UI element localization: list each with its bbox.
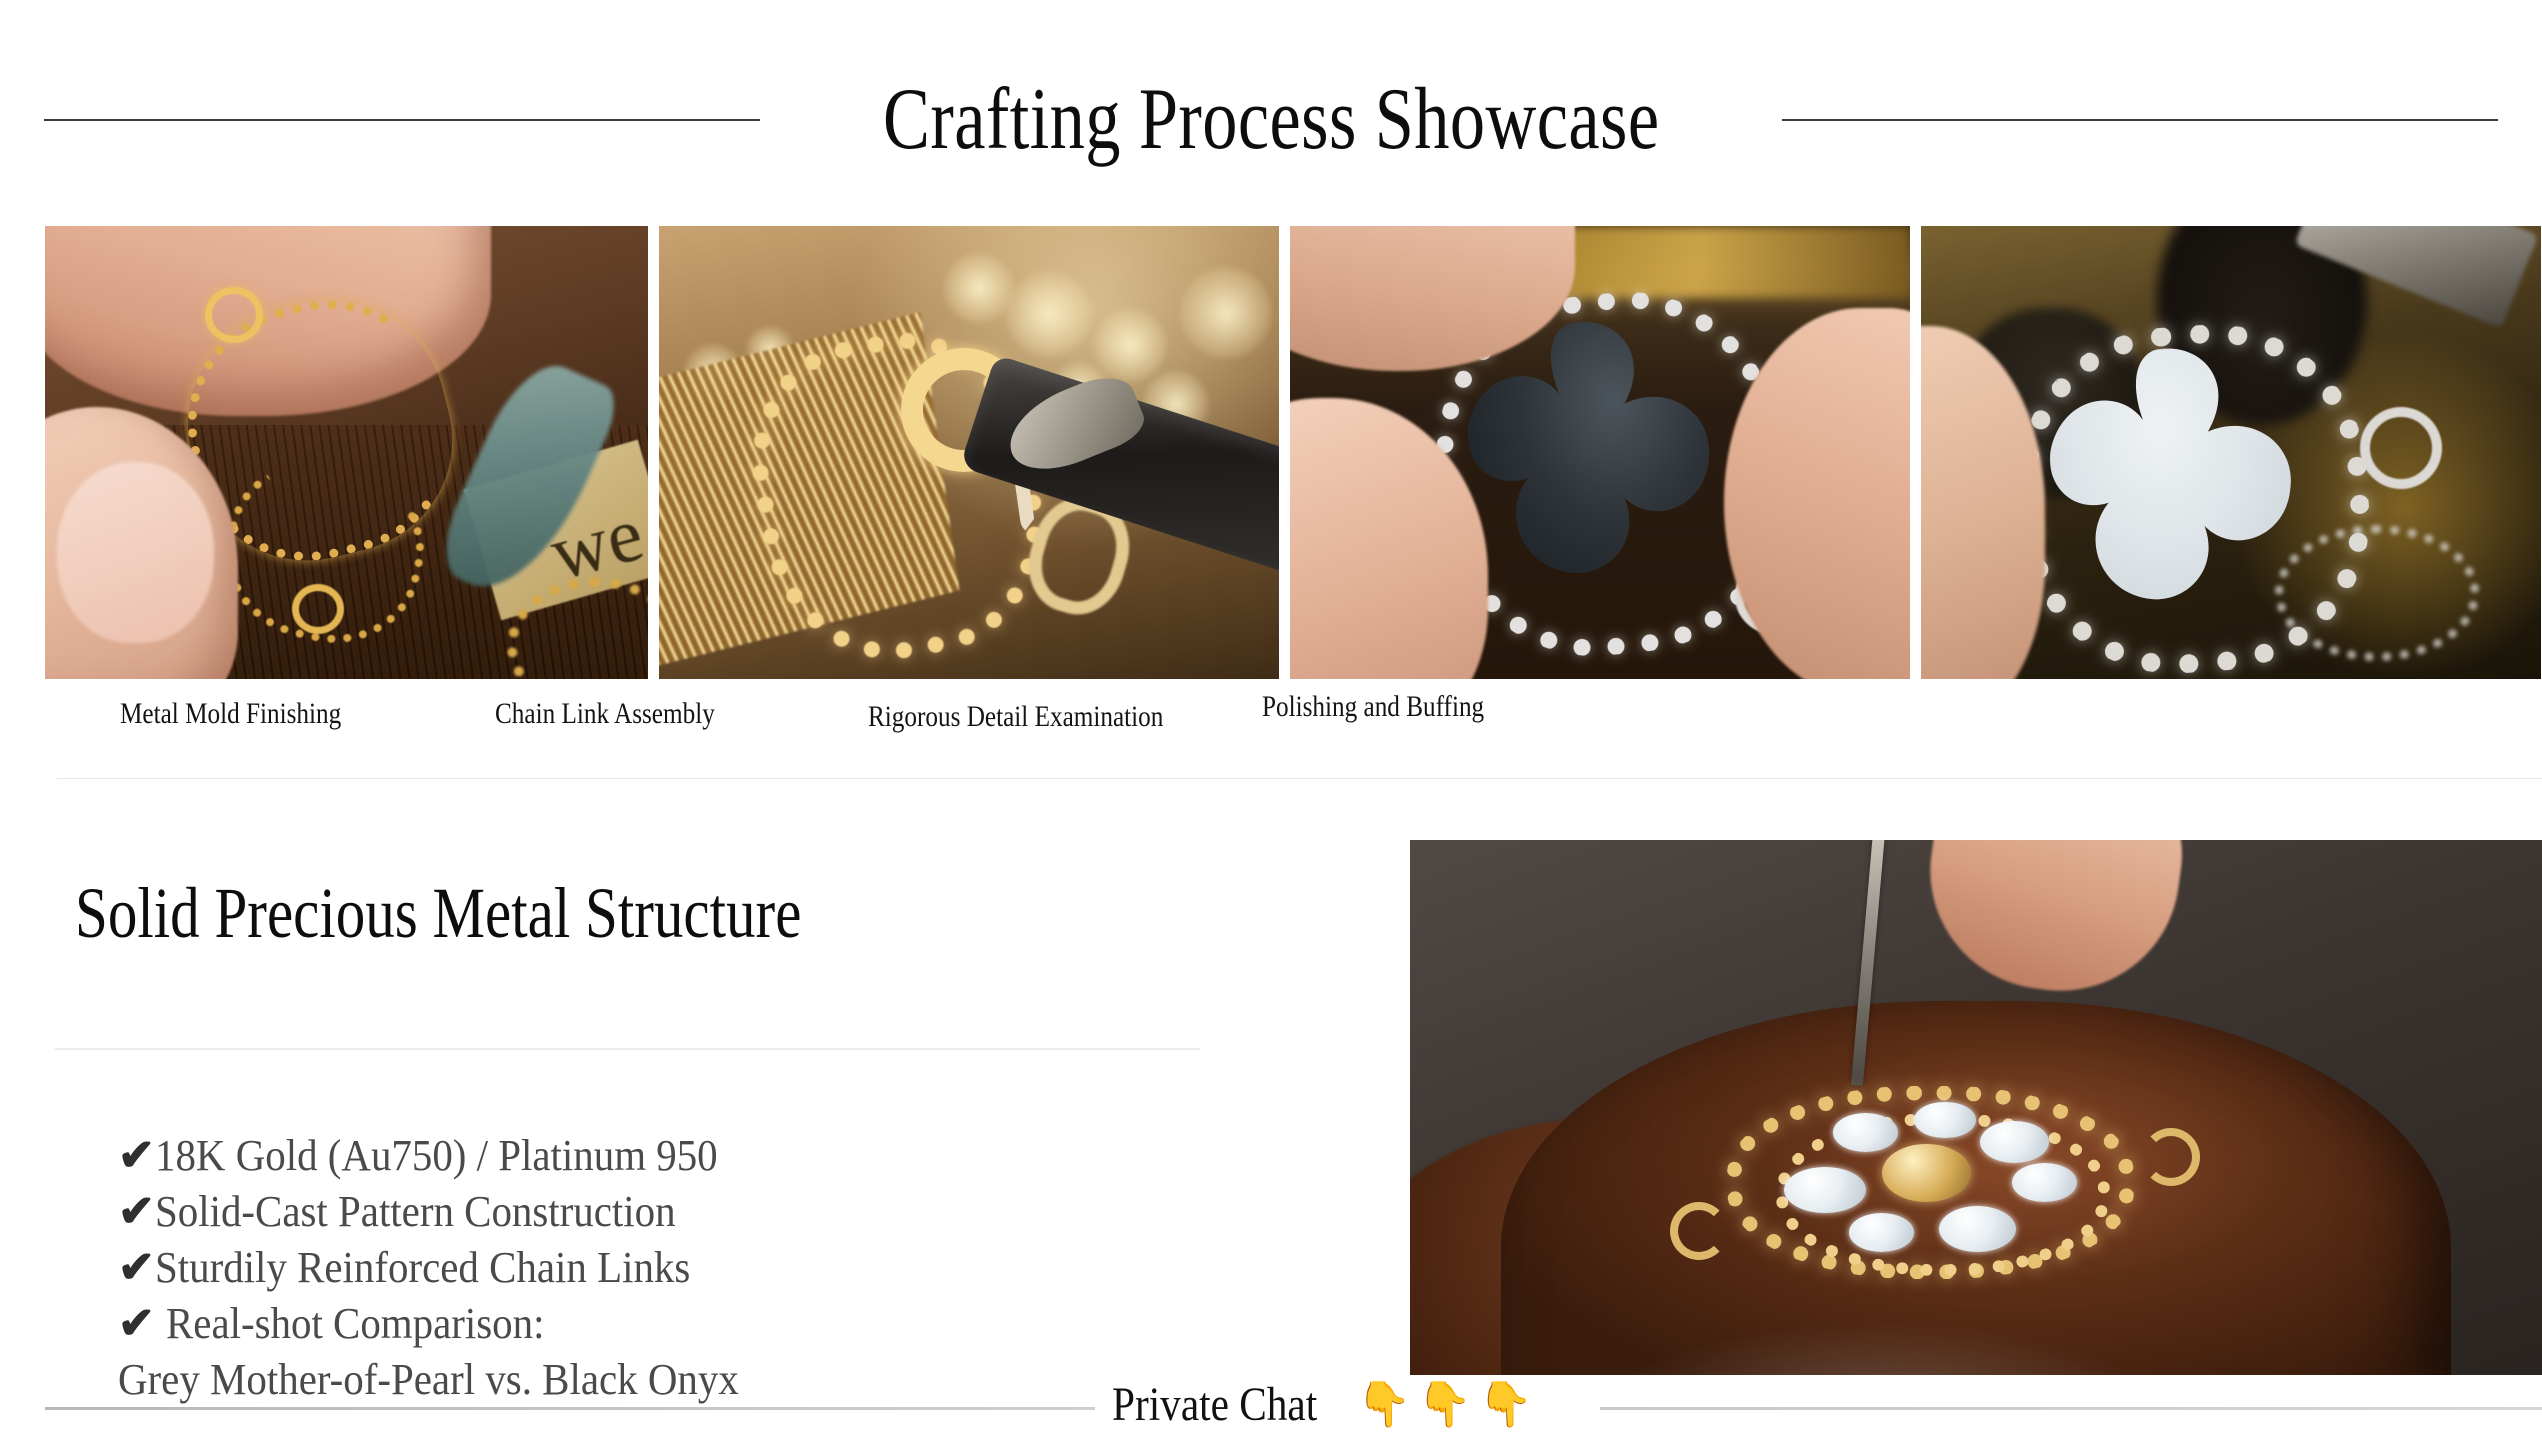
caption-process-1: Metal Mold Finishing (120, 697, 341, 731)
checkmark-icon: ✔ (118, 1240, 155, 1296)
pointing-down-icon: 👇 (1478, 1383, 1533, 1427)
page-title: Crafting Process Showcase (883, 76, 1659, 164)
footer-rule-left (45, 1407, 1095, 1410)
pointing-down-icon: 👇 (1417, 1383, 1472, 1427)
feature-item: ✔ 18K Gold (Au750) / Platinum 950 (118, 1128, 1268, 1184)
private-chat-label[interactable]: Private Chat 👇 👇 👇 (1112, 1377, 1533, 1432)
feature-label: Sturdily Reinforced Chain Links (155, 1240, 690, 1296)
detail-image[interactable] (1410, 840, 2542, 1375)
photo-polishing-and-buffing (1921, 226, 2541, 679)
page-header: Crafting Process Showcase (0, 60, 2542, 180)
feature-item: ✔ Solid-Cast Pattern Construction (118, 1184, 1268, 1240)
process-image-4[interactable] (1921, 226, 2541, 679)
feature-item: ✔ Sturdily Reinforced Chain Links (118, 1240, 1268, 1296)
section-divider (57, 778, 2542, 779)
caption-process-2: Chain Link Assembly (495, 697, 715, 731)
caption-process-3: Rigorous Detail Examination (868, 700, 1163, 734)
feature-label: Real-shot Comparison: (166, 1296, 544, 1352)
photo-rigorous-detail-examination (1290, 226, 1910, 679)
heading-underline (55, 1048, 1200, 1050)
pointing-down-icon: 👇 (1357, 1383, 1412, 1427)
footer-rule-right (1600, 1407, 2542, 1410)
section-heading: Solid Precious Metal Structure (75, 872, 801, 955)
private-chat-text: Private Chat (1112, 1377, 1317, 1432)
photo-chain-link-assembly (659, 226, 1279, 679)
checkmark-icon: ✔ (118, 1184, 155, 1240)
caption-process-4: Polishing and Buffing (1262, 690, 1484, 724)
title-rule-right (1782, 119, 2498, 121)
photo-stone-setting (1410, 840, 2542, 1375)
checkmark-icon: ✔ (118, 1128, 155, 1184)
feature-label: Solid-Cast Pattern Construction (155, 1184, 676, 1240)
feature-subline: Grey Mother-of-Pearl vs. Black Onyx (118, 1352, 1188, 1408)
process-image-3[interactable] (1290, 226, 1910, 679)
title-rule-left (44, 119, 760, 121)
feature-list: ✔ 18K Gold (Au750) / Platinum 950 ✔ Soli… (118, 1128, 1268, 1408)
process-image-strip: we (45, 226, 2530, 679)
feature-item: ✔ Real-shot Comparison: (118, 1296, 1268, 1352)
process-image-2[interactable] (659, 226, 1279, 679)
feature-label: 18K Gold (Au750) / Platinum 950 (155, 1128, 718, 1184)
checkmark-icon: ✔ (118, 1296, 155, 1352)
photo-metal-mold-finishing: we (45, 226, 648, 679)
process-image-1[interactable]: we (45, 226, 648, 679)
